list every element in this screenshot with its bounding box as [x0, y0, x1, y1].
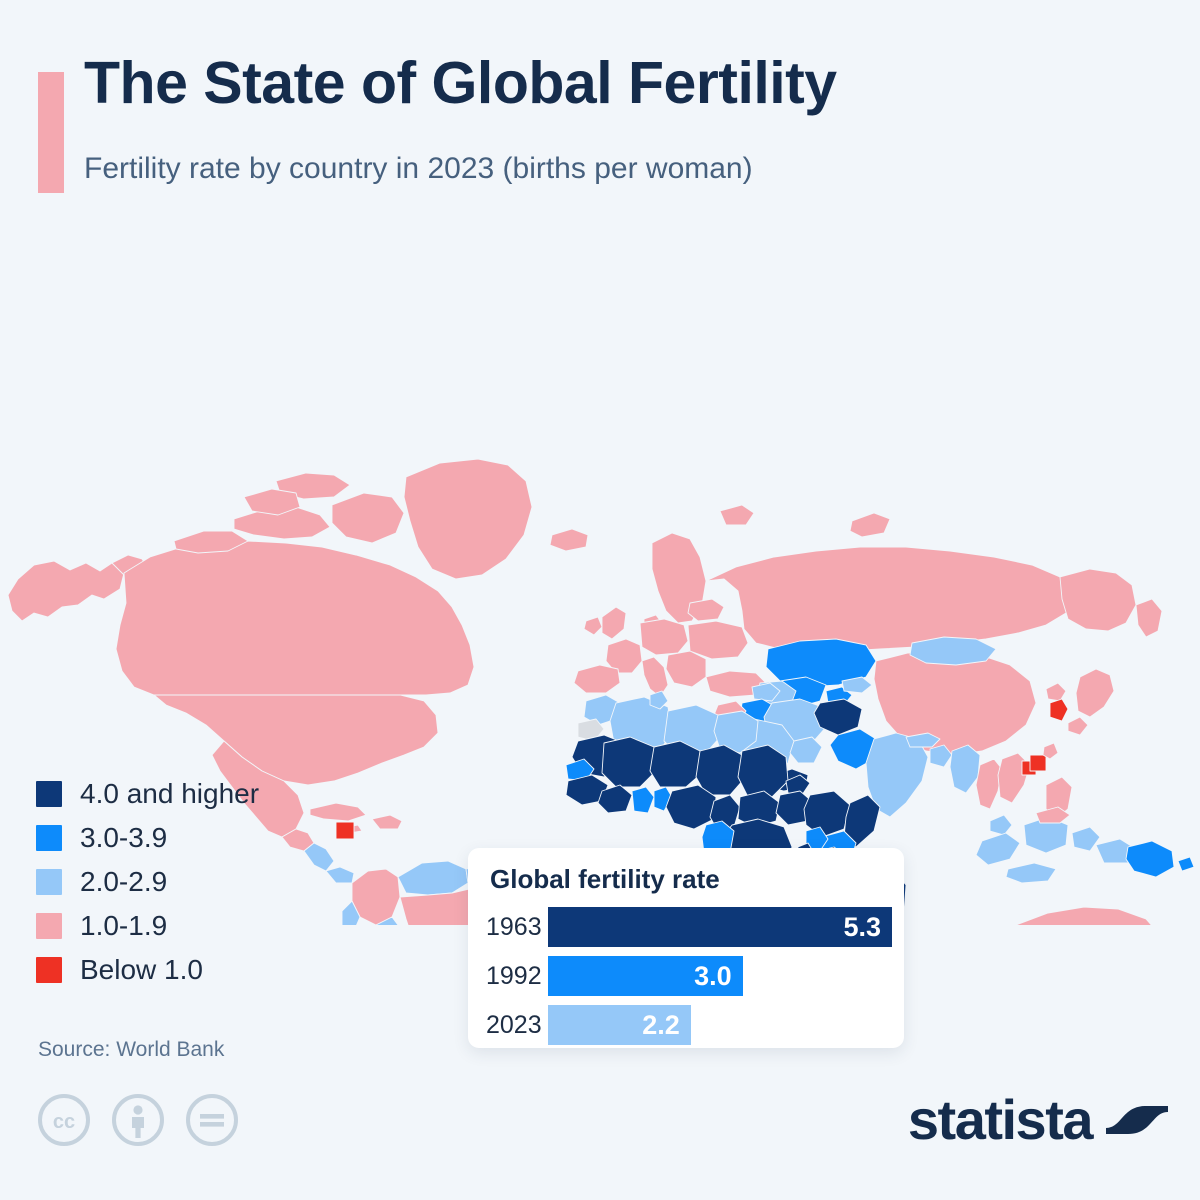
country-balkans — [666, 651, 706, 687]
cc-nd-equals-icon — [184, 1092, 240, 1148]
legend-label-0: 4.0 and higher — [80, 780, 259, 808]
country-ireland — [584, 617, 602, 635]
legend-swatch-3 — [36, 913, 62, 939]
creative-commons-icons: cc — [36, 1092, 240, 1148]
page-subtitle: Fertility rate by country in 2023 (birth… — [84, 152, 753, 185]
bar-track-2023: 2.2 — [548, 1005, 892, 1045]
country-ghana — [632, 787, 654, 813]
legend-label-2: 2.0-2.9 — [80, 868, 167, 896]
bar-fill-1992: 3.0 — [548, 956, 743, 996]
country-indonesia-sulawesi — [1072, 827, 1100, 851]
country-russia — [706, 547, 1072, 651]
inset-bar-chart: 1963 5.3 1992 3.0 2023 2.2 — [486, 906, 892, 1053]
statista-logo: statista — [908, 1092, 1168, 1148]
bar-track-1992: 3.0 — [548, 956, 892, 996]
legend-swatch-2 — [36, 869, 62, 895]
bar-fill-1963: 5.3 — [548, 907, 892, 947]
country-indonesia-java — [1006, 863, 1056, 883]
global-fertility-rate-card: Global fertility rate 1963 5.3 1992 3.0 … — [468, 848, 904, 1048]
region-novaya-zemlya — [850, 513, 890, 537]
country-united-kingdom — [602, 607, 626, 639]
country-vietnam-laos-cambodia — [998, 753, 1030, 803]
country-canada — [116, 541, 474, 695]
bar-fill-2023: 2.2 — [548, 1005, 691, 1045]
legend-item-2: 2.0-2.9 — [36, 860, 356, 904]
statista-wordmark: statista — [908, 1092, 1092, 1148]
country-myanmar — [950, 745, 980, 793]
country-malaysia-west — [990, 815, 1012, 835]
bar-row-2023: 2023 2.2 — [486, 1004, 892, 1046]
cc-icon: cc — [36, 1092, 92, 1148]
country-hispaniola — [372, 815, 402, 829]
legend-label-3: 1.0-1.9 — [80, 912, 167, 940]
country-greenland — [404, 459, 532, 579]
country-solomon-islands — [1178, 857, 1194, 871]
legend-swatch-0 — [36, 781, 62, 807]
country-papua-new-guinea — [1126, 841, 1174, 877]
statista-s-curve-mark — [1106, 1092, 1168, 1148]
country-baltics — [688, 599, 724, 621]
country-australia — [1006, 907, 1166, 925]
region-baffin-island — [332, 493, 404, 543]
legend-label-4: Below 1.0 — [80, 956, 203, 984]
country-spain-portugal — [574, 665, 620, 693]
country-italy — [642, 657, 668, 697]
country-taiwan — [1043, 743, 1058, 759]
legend-item-1: 3.0-3.9 — [36, 816, 356, 860]
bar-year-2023: 2023 — [486, 1011, 548, 1040]
country-alaska — [8, 561, 124, 621]
country-ukraine-belarus — [688, 621, 748, 659]
legend-swatch-4 — [36, 957, 62, 983]
cc-by-person-icon — [110, 1092, 166, 1148]
bar-track-1963: 5.3 — [548, 907, 892, 947]
svg-text:cc: cc — [53, 1111, 75, 1133]
country-venezuela — [398, 861, 468, 895]
card-title: Global fertility rate — [490, 864, 720, 895]
country-mongolia — [910, 637, 996, 665]
region-svalbard — [720, 505, 754, 525]
map-legend: 4.0 and higher 3.0-3.9 2.0-2.9 1.0-1.9 B… — [36, 772, 356, 992]
legend-swatch-1 — [36, 825, 62, 851]
bar-row-1963: 1963 5.3 — [486, 906, 892, 948]
country-iceland — [550, 529, 588, 551]
country-south-korea — [1050, 699, 1068, 721]
country-nigeria — [666, 785, 716, 829]
country-chad — [696, 745, 744, 795]
country-germany-poland — [640, 619, 688, 655]
title-accent-bar — [38, 72, 64, 193]
bar-year-1963: 1963 — [486, 913, 548, 942]
country-russia-far-east — [1060, 569, 1136, 631]
infographic-page: The State of Global Fertility Fertility … — [0, 0, 1200, 1200]
legend-item-3: 1.0-1.9 — [36, 904, 356, 948]
legend-label-1: 3.0-3.9 — [80, 824, 167, 852]
bar-row-1992: 1992 3.0 — [486, 955, 892, 997]
page-title: The State of Global Fertility — [84, 53, 837, 115]
region-kamchatka — [1136, 599, 1162, 637]
country-indonesia-sumatra — [976, 833, 1020, 865]
bar-year-1992: 1992 — [486, 962, 548, 991]
header: The State of Global Fertility Fertility … — [0, 0, 1200, 215]
country-north-korea — [1046, 683, 1066, 701]
legend-item-0: 4.0 and higher — [36, 772, 356, 816]
region-hong-kong — [1030, 755, 1046, 771]
country-oman-uae — [790, 737, 822, 763]
country-thailand — [976, 759, 1002, 809]
country-niger — [650, 741, 702, 787]
country-japan-kyushu — [1068, 717, 1088, 735]
source-note: Source: World Bank — [38, 1038, 224, 1062]
legend-item-4: Below 1.0 — [36, 948, 356, 992]
country-japan — [1076, 669, 1114, 717]
country-mali — [602, 737, 656, 787]
